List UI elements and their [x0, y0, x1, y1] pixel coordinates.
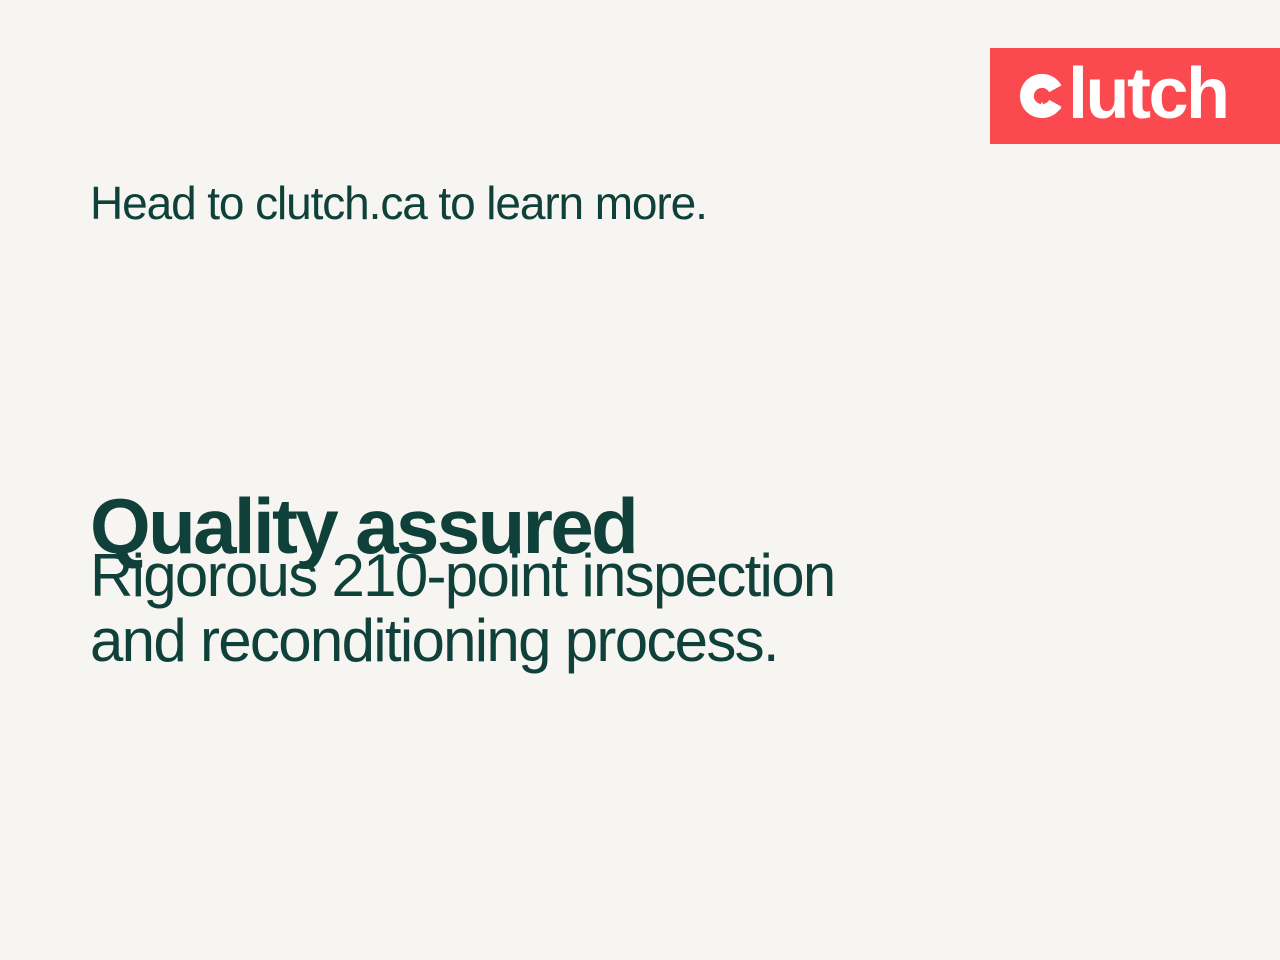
body-copy-line-1: Rigorous 210-point inspection: [90, 544, 835, 609]
slide-canvas: lutch Head to clutch.ca to learn more. Q…: [0, 0, 1280, 960]
clutch-logo-text: lutch: [1068, 58, 1227, 130]
body-copy-line-2: and reconditioning process.: [90, 609, 835, 674]
kicker-text: Head to clutch.ca to learn more.: [90, 178, 707, 229]
body-copy: Rigorous 210-point inspection and recond…: [90, 544, 835, 674]
clutch-logo-block[interactable]: lutch: [990, 48, 1280, 144]
clutch-c-mark-icon: [1018, 72, 1066, 120]
clutch-wordmark: lutch: [1018, 65, 1227, 127]
